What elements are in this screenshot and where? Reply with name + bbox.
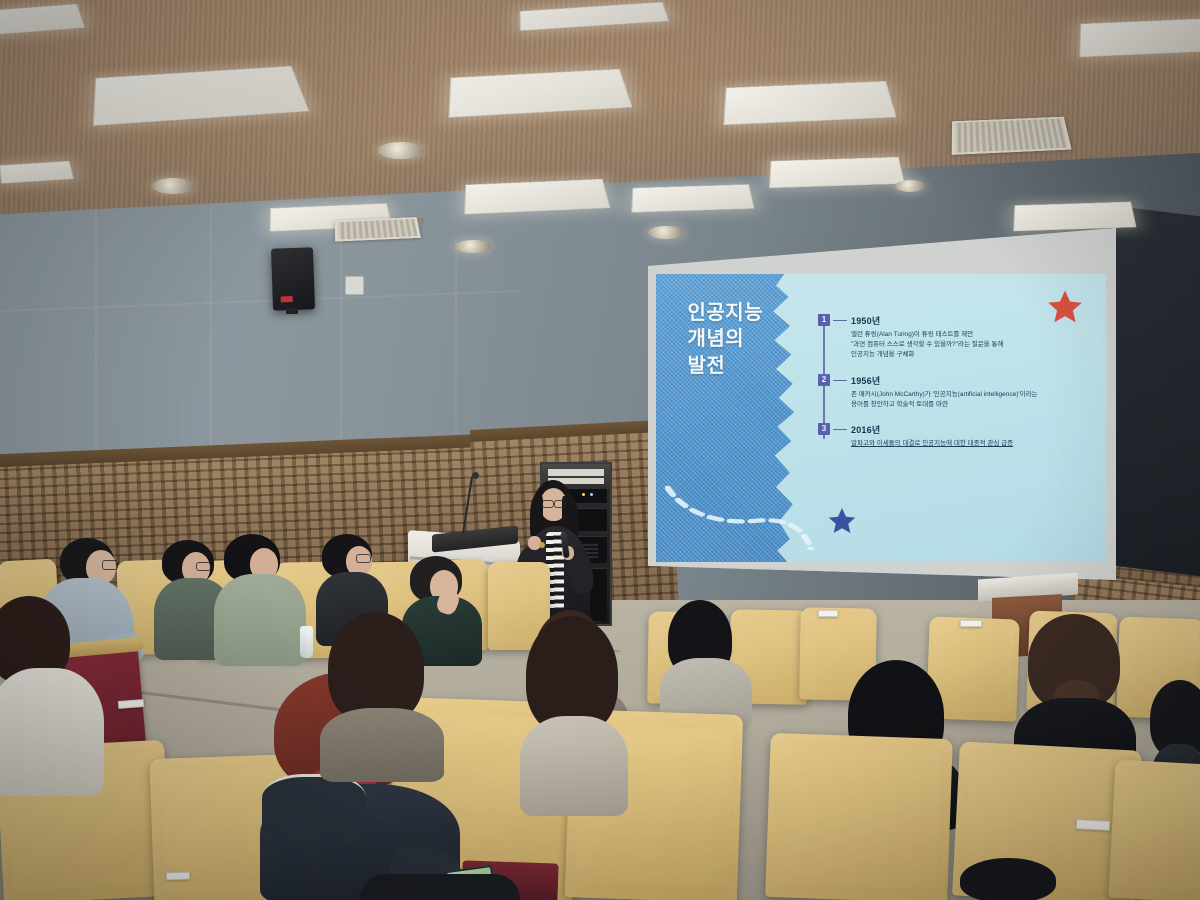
seat[interactable] (1108, 760, 1200, 900)
ceiling-downlight (648, 226, 684, 239)
audience-member (0, 596, 108, 796)
timeline-connector (833, 320, 847, 321)
navy-star-icon (827, 506, 857, 536)
screen-surface: 인공지능 개념의 발전 1 (648, 228, 1116, 580)
ceiling-light-panel (769, 157, 905, 188)
audience-member (320, 612, 448, 782)
timeline-year-3: 2016년 (851, 423, 1088, 436)
presenter-glasses (554, 500, 566, 508)
gooseneck-mic-head (472, 472, 479, 479)
ceiling-light-panel (631, 184, 754, 212)
timeline-desc-1-line-2: "과연 컴퓨터 스스로 생각할 수 있을까?"라는 질문을 통해 (851, 340, 1088, 350)
timeline-badge-2: 2 (818, 374, 830, 386)
timeline-desc-2-line-2: 용어를 창안하고 학술적 토대를 마련 (851, 400, 1088, 410)
rack-label-strip (548, 469, 604, 476)
ceiling-downlight (152, 178, 194, 194)
slide-title: 인공지능 개념의 발전 (688, 300, 764, 379)
ceiling-hvac-diffuser (952, 117, 1072, 155)
seat[interactable] (765, 733, 953, 900)
audience-glasses (102, 560, 118, 570)
timeline-year-2: 1956년 (851, 374, 1088, 387)
timeline-item: 1 1950년 앨런 튜링(Alan Turing)이 튜링 테스트를 제안 "… (818, 314, 1088, 360)
water-bottle[interactable] (300, 626, 313, 658)
wall-speaker (271, 247, 315, 310)
seat-number-tag (166, 872, 190, 881)
timeline-body-1: 1950년 앨런 튜링(Alan Turing)이 튜링 테스트를 제안 "과연… (851, 314, 1088, 360)
audience-member (960, 858, 1070, 900)
timeline-body-3: 2016년 알파고와 이세돌의 대결로 인공지능에 대한 대중적 관심 급증 (851, 423, 1088, 449)
dashed-path-decoration (665, 481, 926, 550)
ceiling-light-panel (1079, 18, 1200, 57)
slide-timeline: 1 1950년 앨런 튜링(Alan Turing)이 튜링 테스트를 제안 "… (818, 314, 1088, 448)
ceiling-light-panel (723, 81, 896, 125)
audience-member (360, 874, 530, 900)
jacket-hood (262, 774, 366, 833)
timeline-badge-3: 3 (818, 423, 830, 435)
presentation-slide: 인공지능 개념의 발전 1 (656, 274, 1106, 562)
lecture-hall-photo: 인공지능 개념의 발전 1 (0, 0, 1200, 900)
timeline-desc-1-line-1: 앨런 튜링(Alan Turing)이 튜링 테스트를 제안 (851, 330, 1088, 340)
audience-body (320, 708, 444, 782)
timeline-desc-2-line-1: 존 매카시(John McCarthy)가 '인공지능(artificial i… (851, 390, 1088, 400)
seat-number-tag (818, 610, 838, 617)
audience-body (360, 874, 520, 900)
ceiling-downlight (378, 142, 424, 159)
ceiling-downlight (895, 180, 925, 192)
ceiling-light-panel (1013, 202, 1136, 232)
timeline-desc-3-line-1: 알파고와 이세돌의 대결로 인공지능에 대한 대중적 관심 급증 (851, 439, 1088, 449)
timeline-desc-1-line-3: 인공지능 개념을 구체화 (851, 350, 1088, 360)
sprinkler-head (418, 218, 425, 225)
slide-title-line-1: 인공지능 (688, 300, 764, 326)
audience-glasses (196, 562, 211, 571)
wall-plate (345, 276, 364, 295)
slide-title-line-2: 개념의 (688, 326, 764, 352)
audience-member (212, 534, 308, 664)
timeline-connector (833, 429, 847, 430)
audience-body (520, 716, 628, 816)
seat-number-tag (1076, 819, 1110, 831)
speaker-bracket (286, 308, 298, 314)
audience-hair (960, 858, 1056, 900)
seat-number-tag (960, 620, 982, 627)
projection-screen: 인공지능 개념의 발전 1 (648, 228, 1116, 580)
timeline-year-1: 1950년 (851, 314, 1088, 327)
audience-body (214, 574, 306, 666)
dark-side-wall (1108, 205, 1200, 580)
timeline-item: 3 2016년 알파고와 이세돌의 대결로 인공지능에 대한 대중적 관심 급증 (818, 423, 1088, 449)
audience-member (520, 616, 630, 816)
presenter-glasses (542, 500, 554, 508)
timeline-item: 2 1956년 존 매카시(John McCarthy)가 '인공지능(arti… (818, 374, 1088, 410)
audience-body (0, 668, 104, 796)
audience-glasses (356, 554, 371, 563)
presenter-badge (539, 542, 545, 548)
timeline-body-2: 1956년 존 매카시(John McCarthy)가 '인공지능(artifi… (851, 374, 1088, 410)
ceiling-downlight (455, 240, 491, 253)
audience-member (660, 600, 756, 730)
timeline-connector (833, 380, 847, 381)
timeline-badge-1: 1 (818, 314, 830, 326)
speaker-logo (281, 296, 293, 302)
slide-title-line-3: 발전 (688, 353, 764, 379)
ceiling-hvac-diffuser (335, 217, 421, 242)
